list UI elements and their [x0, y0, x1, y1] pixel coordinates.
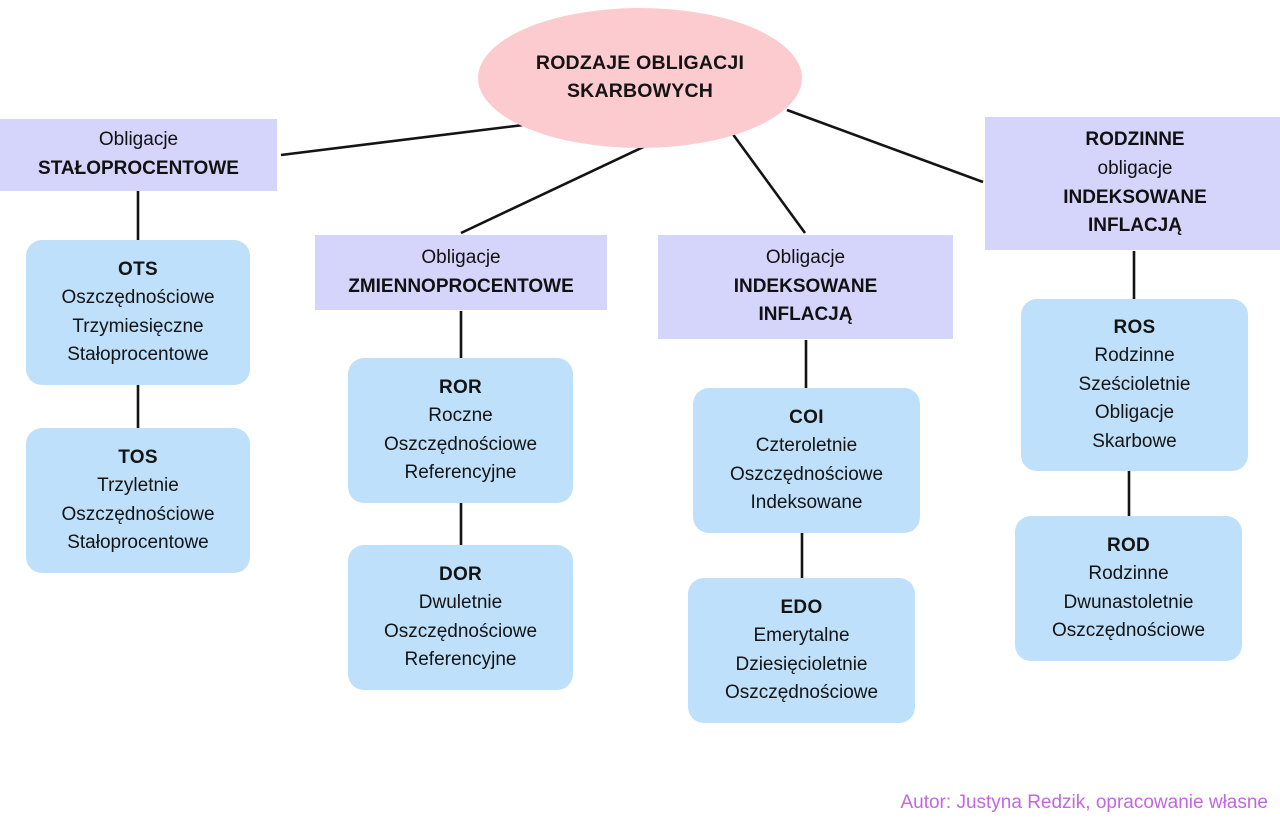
leaf-rod-line-3: Oszczędnościowe [1052, 617, 1205, 646]
leaf-ots-line-2: Trzymiesięczne [72, 313, 203, 342]
leaf-coi-line-2: Oszczędnościowe [730, 461, 883, 490]
cat-rodzinne-indeksowane-inflacja-line-3: INFLACJĄ [1088, 212, 1182, 241]
cat-zmiennoprocentowe: ObligacjeZMIENNOPROCENTOWE [315, 235, 607, 310]
leaf-ror-line-0: ROR [439, 374, 482, 403]
leaf-rod-line-1: Rodzinne [1088, 560, 1168, 589]
leaf-tos: TOSTrzyletnieOszczędnościoweStałoprocent… [26, 428, 250, 573]
cat-indeksowane-inflacja-line-2: INFLACJĄ [759, 301, 853, 330]
edge-root-to-zmiennoprocentowe [461, 133, 673, 233]
leaf-tos-line-2: Oszczędnościowe [61, 501, 214, 530]
leaf-ros-line-2: Sześcioletnie [1079, 371, 1191, 400]
leaf-ros-line-3: Obligacje [1095, 399, 1174, 428]
leaf-dor-line-1: Dwuletnie [419, 589, 502, 618]
cat-rodzinne-indeksowane-inflacja-line-2: INDEKSOWANE [1063, 184, 1207, 213]
leaf-edo-line-1: Emerytalne [753, 622, 849, 651]
cat-zmiennoprocentowe-line-1: ZMIENNOPROCENTOWE [348, 273, 574, 302]
cat-zmiennoprocentowe-line-0: Obligacje [421, 244, 500, 273]
cat-rodzinne-indeksowane-inflacja-line-1: obligacje [1098, 155, 1173, 184]
leaf-rod-line-2: Dwunastoletnie [1064, 589, 1194, 618]
leaf-ror-line-2: Oszczędnościowe [384, 431, 537, 460]
leaf-ots-line-1: Oszczędnościowe [61, 284, 214, 313]
leaf-tos-line-0: TOS [118, 444, 158, 473]
leaf-ros-line-4: Skarbowe [1092, 428, 1177, 457]
leaf-edo-line-3: Oszczędnościowe [725, 679, 878, 708]
author-credit: Autor: Justyna Redzik, opracowanie własn… [900, 792, 1268, 814]
root-title-line-0: RODZAJE OBLIGACJI [536, 50, 744, 78]
root-title-line-1: SKARBOWYCH [567, 78, 713, 106]
leaf-edo-line-2: Dziesięcioletnie [735, 651, 867, 680]
leaf-coi-line-0: COI [789, 404, 824, 433]
leaf-ots: OTSOszczędnościoweTrzymiesięczneStałopro… [26, 240, 250, 385]
cat-staloprocentowe-line-1: STAŁOPROCENTOWE [38, 155, 239, 184]
leaf-coi-line-1: Czteroletnie [756, 432, 857, 461]
cat-indeksowane-inflacja-line-1: INDEKSOWANE [734, 273, 878, 302]
cat-staloprocentowe-line-0: Obligacje [99, 126, 178, 155]
leaf-dor: DORDwuletnieOszczędnościoweReferencyjne [348, 545, 573, 690]
leaf-coi-line-3: Indeksowane [751, 489, 863, 518]
leaf-tos-line-1: Trzyletnie [97, 472, 179, 501]
leaf-ros: ROSRodzinneSześcioletnieObligacjeSkarbow… [1021, 299, 1248, 471]
cat-indeksowane-inflacja-line-0: Obligacje [766, 244, 845, 273]
root-node: RODZAJE OBLIGACJISKARBOWYCH [478, 8, 802, 148]
cat-staloprocentowe: ObligacjeSTAŁOPROCENTOWE [0, 119, 277, 191]
leaf-ror: RORRoczneOszczędnościoweReferencyjne [348, 358, 573, 503]
leaf-dor-line-3: Referencyjne [405, 646, 517, 675]
diagram-canvas: RODZAJE OBLIGACJISKARBOWYCH ObligacjeSTA… [0, 0, 1280, 831]
edge-root-to-rodzinne [787, 110, 983, 182]
leaf-ror-line-1: Roczne [428, 402, 492, 431]
leaf-ots-line-3: Stałoprocentowe [67, 341, 209, 370]
leaf-rod-line-0: ROD [1107, 532, 1150, 561]
leaf-dor-line-2: Oszczędnościowe [384, 618, 537, 647]
edge-root-to-indeksowane [732, 133, 805, 233]
leaf-rod: RODRodzinneDwunastoletnieOszczędnościowe [1015, 516, 1242, 661]
cat-rodzinne-indeksowane-inflacja-line-0: RODZINNE [1085, 126, 1184, 155]
leaf-ots-line-0: OTS [118, 256, 158, 285]
leaf-edo-line-0: EDO [780, 594, 822, 623]
leaf-dor-line-0: DOR [439, 561, 482, 590]
leaf-edo: EDOEmerytalneDziesięcioletnieOszczędnośc… [688, 578, 915, 723]
leaf-coi: COICzteroletnieOszczędnościoweIndeksowan… [693, 388, 920, 533]
leaf-ros-line-0: ROS [1113, 314, 1155, 343]
leaf-ros-line-1: Rodzinne [1094, 342, 1174, 371]
leaf-ror-line-3: Referencyjne [405, 459, 517, 488]
cat-indeksowane-inflacja: ObligacjeINDEKSOWANEINFLACJĄ [658, 235, 953, 339]
leaf-tos-line-3: Stałoprocentowe [67, 529, 209, 558]
cat-rodzinne-indeksowane-inflacja: RODZINNEobligacjeINDEKSOWANEINFLACJĄ [985, 117, 1280, 250]
